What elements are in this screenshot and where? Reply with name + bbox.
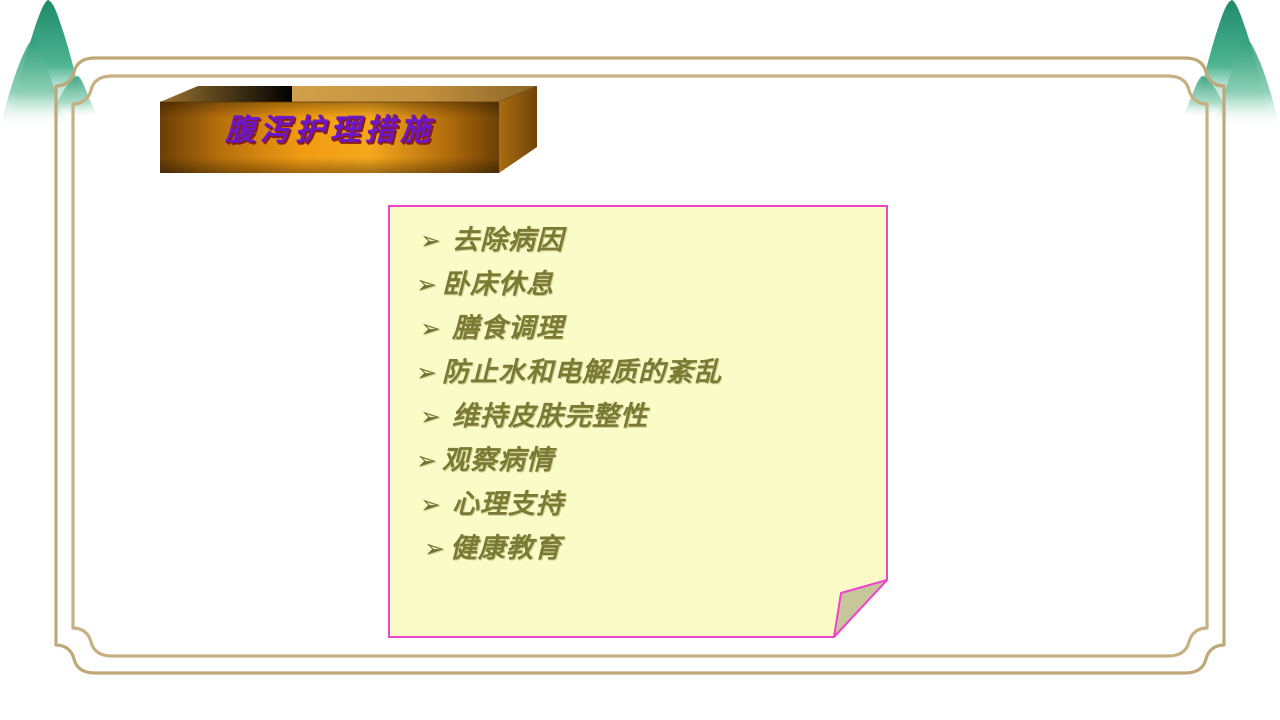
arrow-bullet-icon: ➢ <box>424 527 450 571</box>
title-block-top-face <box>160 86 537 102</box>
arrow-bullet-icon: ➢ <box>420 307 446 351</box>
list-item-label: 卧床休息 <box>442 269 554 300</box>
mountain-ornament-right <box>1181 0 1280 128</box>
list-item-label: 防止水和电解质的紊乱 <box>442 357 722 388</box>
arrow-bullet-icon: ➢ <box>416 439 442 483</box>
page-title: 腹泻护理措施 <box>160 114 500 149</box>
arrow-bullet-icon: ➢ <box>420 483 446 527</box>
list-item-label: 健康教育 <box>450 533 562 564</box>
slide-canvas: 腹泻护理措施 ➢去除病因 ➢卧床休息 ➢膳食调理 ➢防止水和电解质的紊乱 ➢维持… <box>0 0 1280 720</box>
list-item: ➢健康教育 <box>406 527 876 571</box>
list-item-label: 心理支持 <box>452 489 564 520</box>
list-item: ➢观察病情 <box>406 439 876 483</box>
list-item-label: 维持皮肤完整性 <box>452 401 648 432</box>
arrow-bullet-icon: ➢ <box>420 219 446 263</box>
list-item: ➢去除病因 <box>406 219 876 263</box>
list-item-label: 观察病情 <box>442 445 554 476</box>
arrow-bullet-icon: ➢ <box>416 263 442 307</box>
note-card: ➢去除病因 ➢卧床休息 ➢膳食调理 ➢防止水和电解质的紊乱 ➢维持皮肤完整性 ➢… <box>388 205 888 638</box>
list-item: ➢心理支持 <box>406 483 876 527</box>
arrow-bullet-icon: ➢ <box>420 395 446 439</box>
list-item-label: 膳食调理 <box>452 313 564 344</box>
list-item: ➢膳食调理 <box>406 307 876 351</box>
mountain-ornament-left <box>0 0 99 128</box>
list-item: ➢防止水和电解质的紊乱 <box>406 351 876 395</box>
list-item: ➢维持皮肤完整性 <box>406 395 876 439</box>
list-item: ➢卧床休息 <box>406 263 876 307</box>
arrow-bullet-icon: ➢ <box>416 351 442 395</box>
slide-title-block: 腹泻护理措施 <box>160 86 537 173</box>
nursing-measures-list: ➢去除病因 ➢卧床休息 ➢膳食调理 ➢防止水和电解质的紊乱 ➢维持皮肤完整性 ➢… <box>406 219 876 571</box>
list-item-label: 去除病因 <box>452 225 564 256</box>
